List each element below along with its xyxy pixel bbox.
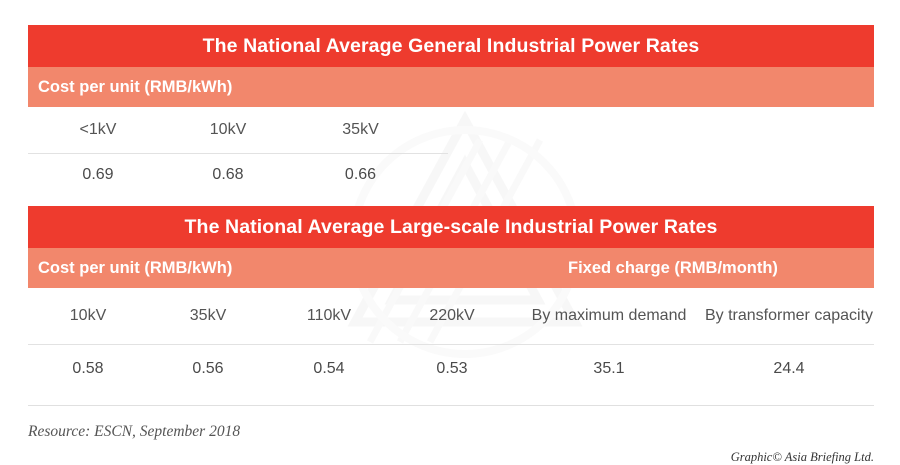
- table1-cell: 0.66: [288, 154, 433, 196]
- table2-cell: 0.53: [390, 345, 514, 393]
- table1-header-row: <1kV 10kV 35kV: [28, 107, 874, 153]
- table2-header-row: 10kV 35kV 110kV 220kV By maximum demand …: [28, 288, 874, 344]
- table2-cell: 24.4: [704, 345, 874, 393]
- table2-cell: 0.54: [268, 345, 390, 393]
- table1-subheader-left: Cost per unit (RMB/kWh): [38, 67, 232, 107]
- table1-cell: 0.69: [28, 154, 168, 196]
- footer: Resource: ESCN, September 2018 Graphic© …: [28, 405, 874, 441]
- table2-cell: 0.58: [28, 345, 148, 393]
- table2-value-row: 0.58 0.56 0.54 0.53 35.1 24.4: [28, 345, 874, 393]
- table2-subheader-right: Fixed charge (RMB/month): [568, 248, 778, 288]
- table1-subheader: Cost per unit (RMB/kWh): [28, 67, 874, 107]
- table1-value-row: 0.69 0.68 0.66: [28, 154, 874, 196]
- table2-col-header: By transformer capacity: [704, 288, 874, 344]
- table2-col-header: 110kV: [268, 288, 390, 344]
- table2-col-header: 35kV: [148, 288, 268, 344]
- rates-sheet: The National Average General Industrial …: [28, 25, 874, 441]
- graphic-credit: Graphic© Asia Briefing Ltd.: [731, 450, 874, 465]
- table1-grid: <1kV 10kV 35kV 0.69 0.68 0.66: [28, 107, 874, 196]
- table1-cell-filler: [433, 154, 874, 196]
- table2-col-header: 10kV: [28, 288, 148, 344]
- table2-grid: 10kV 35kV 110kV 220kV By maximum demand …: [28, 288, 874, 393]
- table2-subheader: Cost per unit (RMB/kWh) Fixed charge (RM…: [28, 248, 874, 288]
- table1-cell: 0.68: [168, 154, 288, 196]
- table1-col-header-filler: [433, 107, 874, 153]
- table1-col-header: 10kV: [168, 107, 288, 153]
- table2-col-header: 220kV: [390, 288, 514, 344]
- table2-title: The National Average Large-scale Industr…: [28, 206, 874, 248]
- table1-col-header: 35kV: [288, 107, 433, 153]
- table2-col-header: By maximum demand: [514, 288, 704, 344]
- table2-cell: 35.1: [514, 345, 704, 393]
- infographic-root: The National Average General Industrial …: [0, 0, 900, 447]
- table2-subheader-left: Cost per unit (RMB/kWh): [38, 248, 232, 288]
- table1-col-header: <1kV: [28, 107, 168, 153]
- table-gap: [28, 196, 874, 206]
- footer-divider: [28, 405, 874, 406]
- table2-cell: 0.56: [148, 345, 268, 393]
- table1-title: The National Average General Industrial …: [28, 25, 874, 67]
- resource-note: Resource: ESCN, September 2018: [28, 423, 874, 441]
